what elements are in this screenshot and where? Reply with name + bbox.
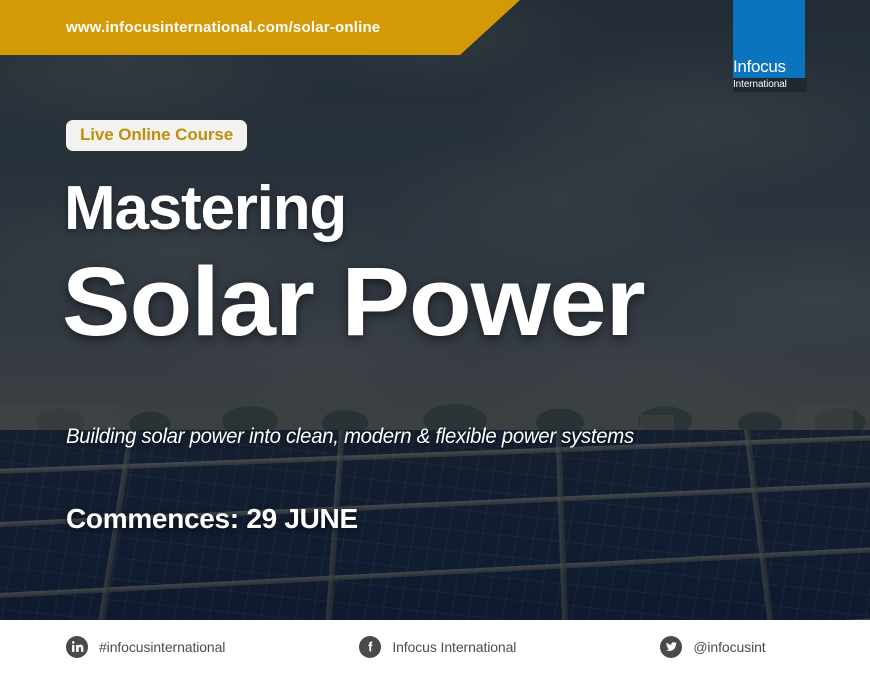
website-url-banner[interactable]: www.infocusinternational.com/solar-onlin…	[0, 0, 520, 55]
social-link-facebook[interactable]: Infocus International	[359, 636, 516, 658]
logo-secondary-text: International	[733, 78, 807, 92]
page-title-line-1: Mastering	[64, 178, 346, 240]
infocus-logo[interactable]: Infocus International	[733, 0, 805, 88]
website-url-text: www.infocusinternational.com/solar-onlin…	[66, 19, 380, 36]
facebook-icon	[359, 636, 381, 658]
subtitle-tagline: Building solar power into clean, modern …	[66, 425, 634, 449]
linkedin-handle: #infocusinternational	[99, 639, 225, 655]
commencement-date: Commences: 29 JUNE	[66, 503, 358, 535]
twitter-handle: @infocusint	[693, 639, 765, 655]
twitter-icon	[660, 636, 682, 658]
course-format-badge: Live Online Course	[66, 120, 247, 151]
logo-primary-text: Infocus	[733, 58, 805, 75]
social-link-twitter[interactable]: @infocusint	[660, 636, 765, 658]
page-title-line-2: Solar Power	[62, 253, 645, 350]
social-footer-bar: #infocusinternational Infocus Internatio…	[0, 620, 870, 673]
promo-banner: www.infocusinternational.com/solar-onlin…	[0, 0, 870, 673]
facebook-handle: Infocus International	[392, 639, 516, 655]
social-link-linkedin[interactable]: #infocusinternational	[66, 636, 225, 658]
linkedin-icon	[66, 636, 88, 658]
